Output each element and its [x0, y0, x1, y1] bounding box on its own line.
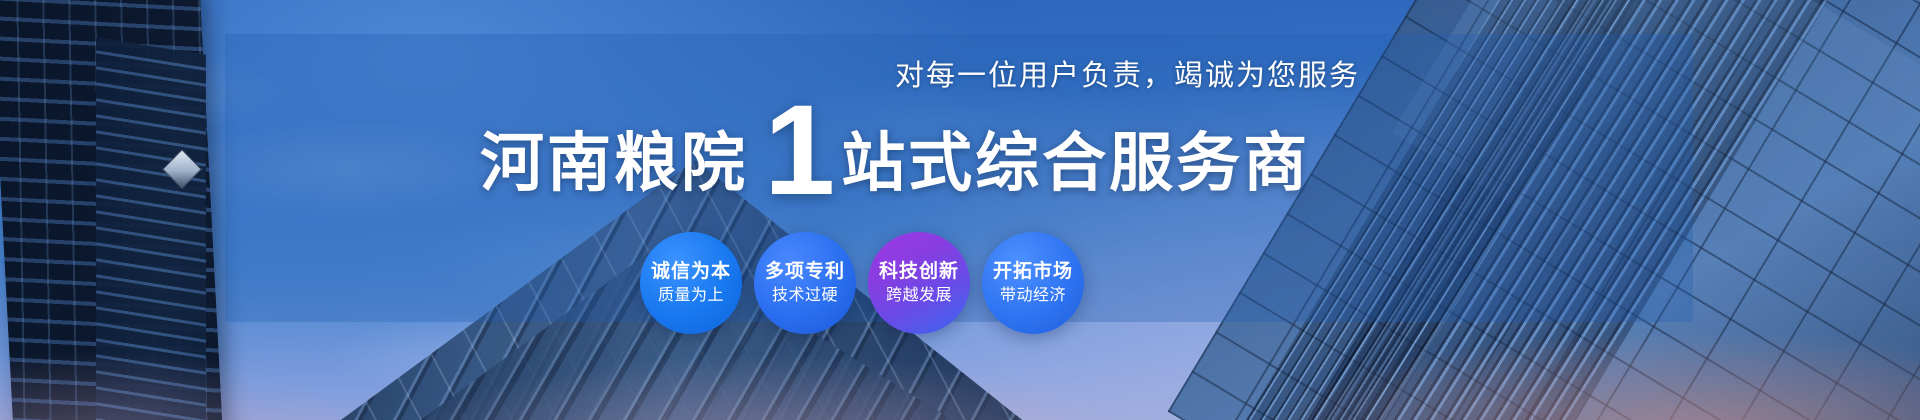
feature-badge[interactable]: 诚信为本 质量为上	[640, 232, 742, 334]
badge-title: 开拓市场	[993, 260, 1073, 283]
banner-content: 对每一位用户负责，竭诚为您服务 河南粮院 1 站式综合服务商 诚信为本 质量为上…	[0, 0, 1920, 420]
badge-subtitle: 跨越发展	[886, 285, 952, 307]
badge-subtitle: 质量为上	[658, 285, 724, 307]
badge-subtitle: 技术过硬	[772, 285, 838, 307]
banner-headline: 河南粮院 1 站式综合服务商	[480, 95, 1310, 195]
headline-number: 1	[764, 101, 835, 201]
hero-banner: 对每一位用户负责，竭诚为您服务 河南粮院 1 站式综合服务商 诚信为本 质量为上…	[0, 0, 1920, 420]
badge-title: 诚信为本	[651, 260, 731, 283]
feature-badge[interactable]: 多项专利 技术过硬	[754, 232, 856, 334]
headline-trail-text: 站式综合服务商	[841, 131, 1310, 195]
badge-subtitle: 带动经济	[1000, 285, 1066, 307]
feature-badge-list: 诚信为本 质量为上 多项专利 技术过硬 科技创新 跨越发展 开拓市场 带动经济	[640, 232, 1084, 334]
feature-badge[interactable]: 科技创新 跨越发展	[868, 232, 970, 334]
feature-badge[interactable]: 开拓市场 带动经济	[982, 232, 1084, 334]
badge-title: 多项专利	[765, 260, 845, 283]
badge-title: 科技创新	[879, 260, 959, 283]
headline-lead-text: 河南粮院	[480, 131, 748, 195]
banner-subtitle: 对每一位用户负责，竭诚为您服务	[895, 52, 1360, 94]
